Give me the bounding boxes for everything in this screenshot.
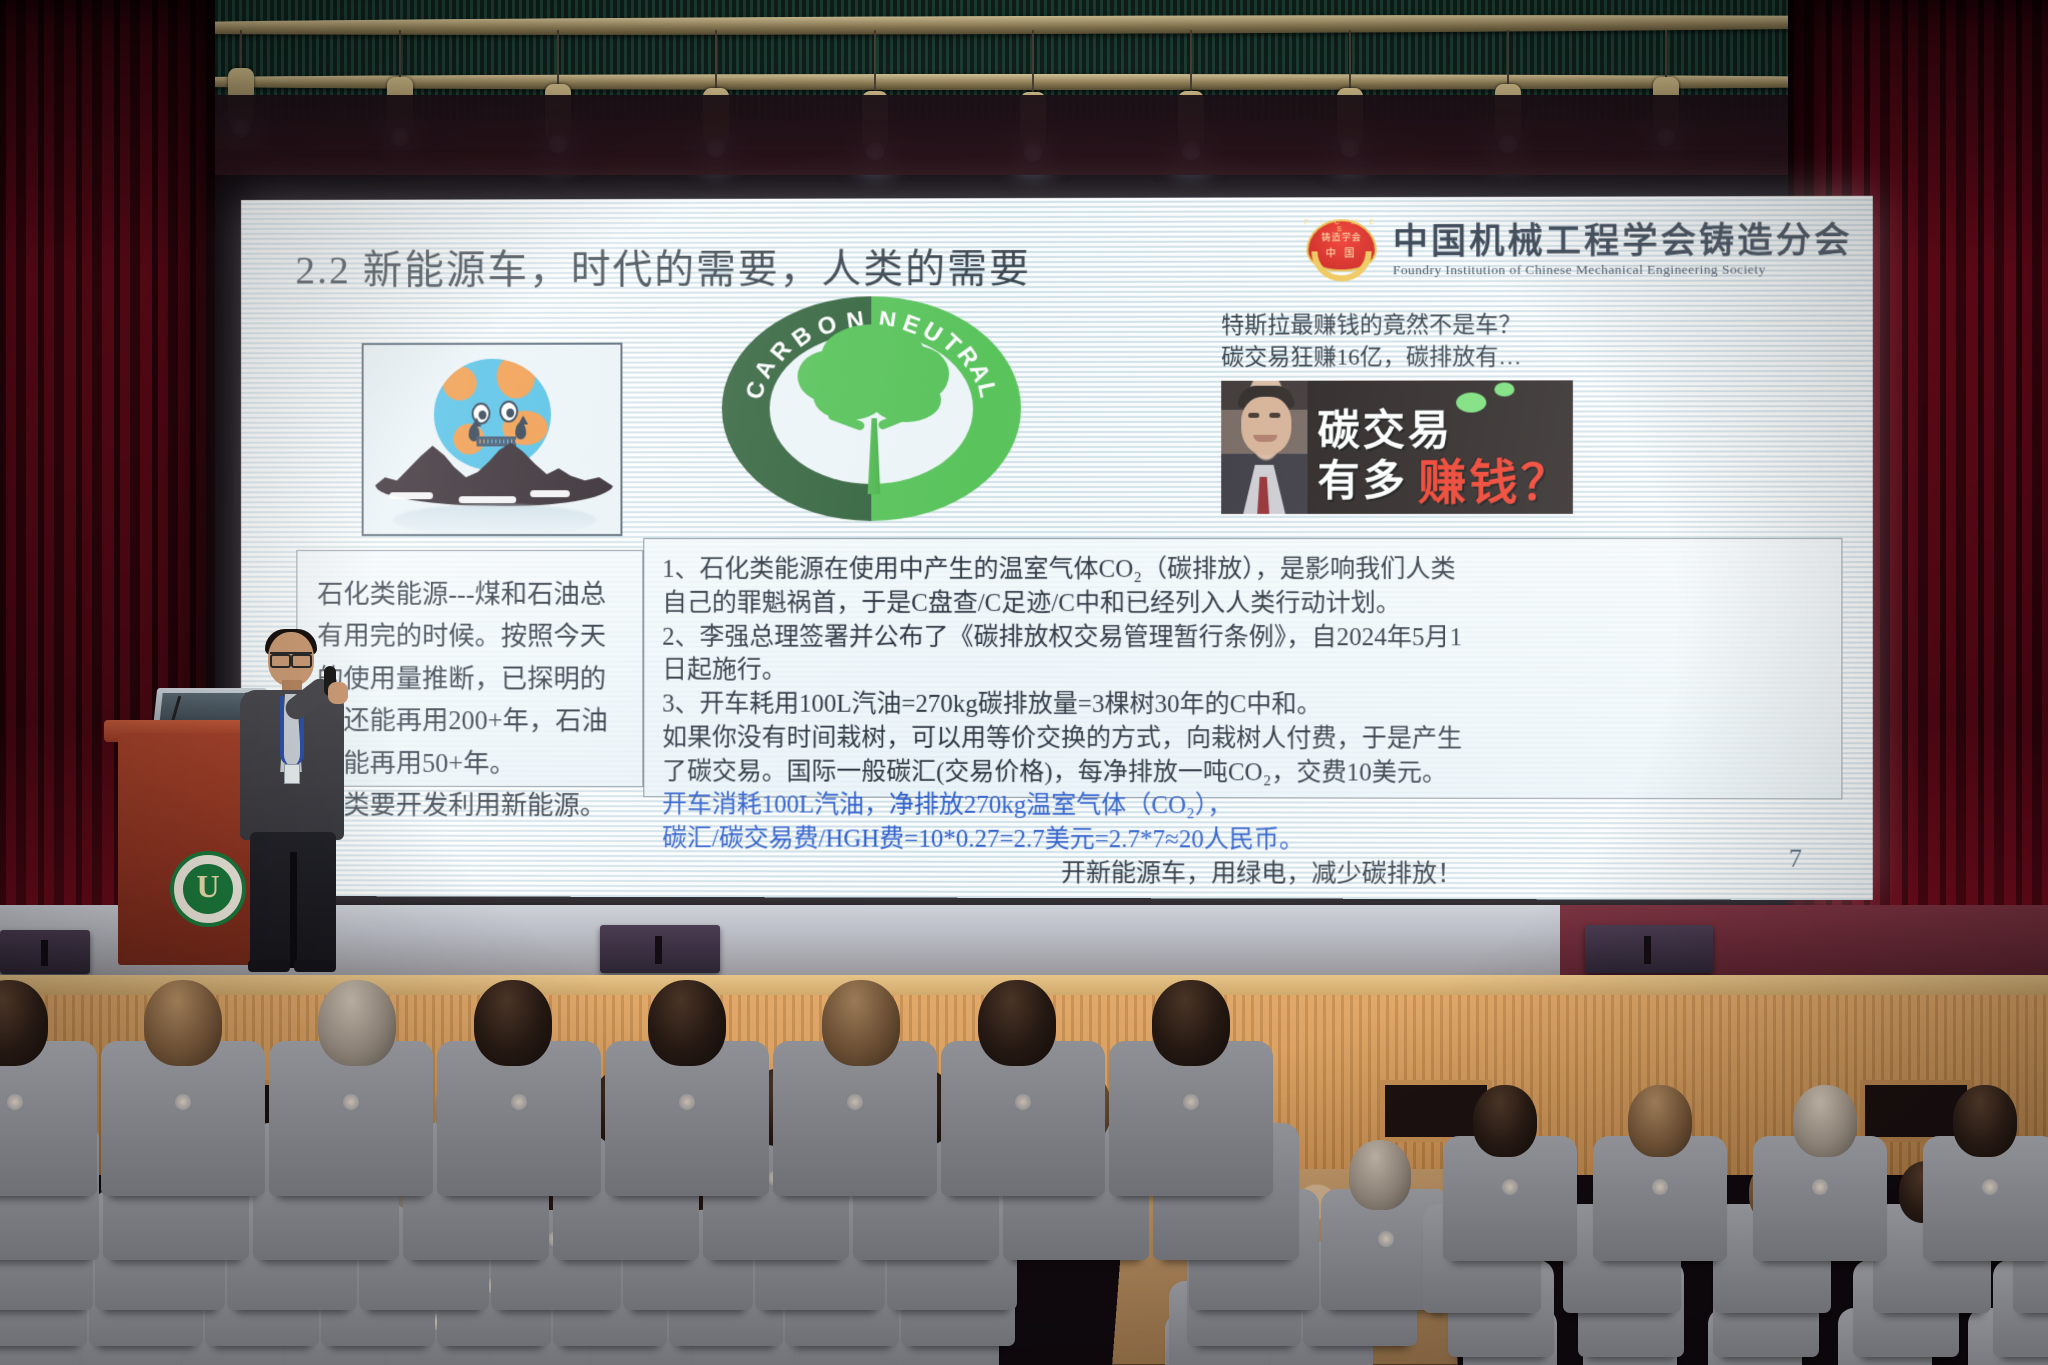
right-text-line: 开新能源车，用绿电，减少碳排放！ — [662, 856, 1825, 893]
society-badge-icon: F I C M E S 铸造学会 中 国 — [1302, 217, 1380, 285]
audience-member — [648, 980, 726, 1066]
audience-seat — [444, 1046, 594, 1196]
audience-seat — [780, 1046, 930, 1196]
audience-seat — [108, 1046, 258, 1196]
audience-seat — [1930, 1141, 2048, 1261]
audience-seat — [948, 1046, 1098, 1196]
right-text-line: 自己的罪魁祸首，于是C盘查/C足迹/C中和已经列入人类行动计划。 — [662, 587, 1825, 621]
name-badge — [284, 764, 300, 784]
floor-monitor-left — [600, 925, 720, 973]
audience-seat — [1600, 1141, 1720, 1261]
carbon-neutral-logo: CARBONNEUTRAL — [722, 296, 1021, 521]
audience-member — [978, 980, 1056, 1066]
audience-member — [1953, 1085, 2017, 1157]
projection-screen: 2.2 新能源车，时代的需要，人类的需要 F I C M E S 铸造学会 中 … — [241, 196, 1873, 900]
carbon-trading-thumbnail: 碳交易 有多 赚钱？ — [1221, 380, 1573, 514]
audience-seat — [1450, 1141, 1570, 1261]
audience-member — [822, 980, 900, 1066]
audience-member — [1473, 1085, 1537, 1157]
thumb-text-line2b: 赚钱？ — [1418, 443, 1572, 513]
audience-member — [318, 980, 396, 1066]
elon-musk-photo — [1221, 381, 1307, 514]
slide-title: 2.2 新能源车，时代的需要，人类的需要 — [295, 236, 1031, 295]
earth-reflection — [393, 504, 596, 534]
crying-earth-image — [362, 343, 623, 536]
tesla-caption-line2: 碳交易狂赚16亿，碳排放有… — [1221, 341, 1643, 373]
audience-member — [1349, 1140, 1411, 1210]
glasses-icon — [270, 652, 312, 662]
presenter — [232, 632, 350, 967]
left-text-line: 还能再用50+年。 — [317, 742, 626, 785]
right-text-line: 如果你没有时间栽树，可以用等价交换的方式，向栽树人付费，于是产生 — [662, 721, 1825, 756]
left-text-line: 石化类能源---煤和石油总 — [317, 573, 626, 615]
right-text-line: 2、李强总理签署并公布了《碳排放权交易管理暂行条例》，自2024年5月1 — [662, 620, 1825, 655]
audience-member — [144, 980, 222, 1066]
tree-icon — [794, 322, 954, 492]
audience-seating — [0, 1005, 2048, 1365]
floor-monitor-right — [1585, 925, 1713, 973]
floor-monitor-far-left — [0, 930, 90, 974]
left-text-line: 有用完的时候。按照今天 — [317, 615, 626, 657]
society-name-english: Foundry Institution of Chinese Mechanica… — [1393, 262, 1853, 279]
audience-seat — [612, 1046, 762, 1196]
audience-member — [1628, 1085, 1692, 1157]
slide-page-number: 7 — [1789, 844, 1802, 874]
earth-globe-icon — [433, 359, 550, 471]
right-text-line: 日起施行。 — [662, 654, 1825, 689]
society-name-chinese: 中国机械工程学会铸造分会 — [1393, 223, 1853, 261]
speech-bubble-icon-2 — [1494, 382, 1514, 396]
right-text-line: 开车消耗100L汽油，净排放270kg温室气体（CO₂）， — [662, 789, 1825, 825]
audience-member — [474, 980, 552, 1066]
left-text-line: 煤还能再用200+年，石油 — [317, 699, 626, 742]
speech-bubble-icon-1 — [1456, 393, 1486, 413]
presentation-slide: 2.2 新能源车，时代的需要，人类的需要 F I C M E S 铸造学会 中 … — [241, 196, 1873, 900]
audience-member — [1152, 980, 1230, 1066]
right-text-line: 1、石化类能源在使用中产生的温室气体CO₂（碳排放），是影响我们人类 — [662, 553, 1825, 587]
left-text-line: 的使用量推断，已探明的 — [317, 657, 626, 700]
right-text-box: 1、石化类能源在使用中产生的温室气体CO₂（碳排放），是影响我们人类自己的罪魁祸… — [643, 538, 1842, 800]
society-logo: F I C M E S 铸造学会 中 国 中国机械工程学会铸造分会 Foundr… — [1302, 216, 1852, 285]
badge-line-1: 铸造学会 — [1302, 230, 1380, 243]
curtain-header — [0, 95, 2048, 175]
tesla-caption-line1: 特斯拉最赚钱的竟然不是车？ — [1221, 309, 1643, 342]
right-text-line: 3、开车耗用100L汽油=270kg碳排放量=3棵树30年的C中和。 — [662, 688, 1825, 723]
audience-member — [1793, 1085, 1857, 1157]
audience-seat — [276, 1046, 426, 1196]
tesla-caption: 特斯拉最赚钱的竟然不是车？ 碳交易狂赚16亿，碳排放有… — [1221, 309, 1643, 373]
audience-seat — [1760, 1141, 1880, 1261]
university-logo-letter: U — [196, 870, 219, 902]
thumb-text-line2a: 有多 — [1317, 447, 1407, 508]
audience-seat — [0, 1046, 90, 1196]
auditorium-scene: 2.2 新能源车，时代的需要，人类的需要 F I C M E S 铸造学会 中 … — [0, 0, 2048, 1365]
audience-seat — [1116, 1046, 1266, 1196]
right-text-line: 碳汇/碳交易费/HGH费=10*0.27=2.7美元=2.7*7≈20人民币。 — [662, 822, 1825, 858]
left-text-line: 人类要开发利用新能源。 — [317, 784, 626, 827]
right-text-line: 了碳交易。国际一般碳汇(交易价格)，每净排放一吨CO₂，交费10美元。 — [662, 755, 1825, 791]
